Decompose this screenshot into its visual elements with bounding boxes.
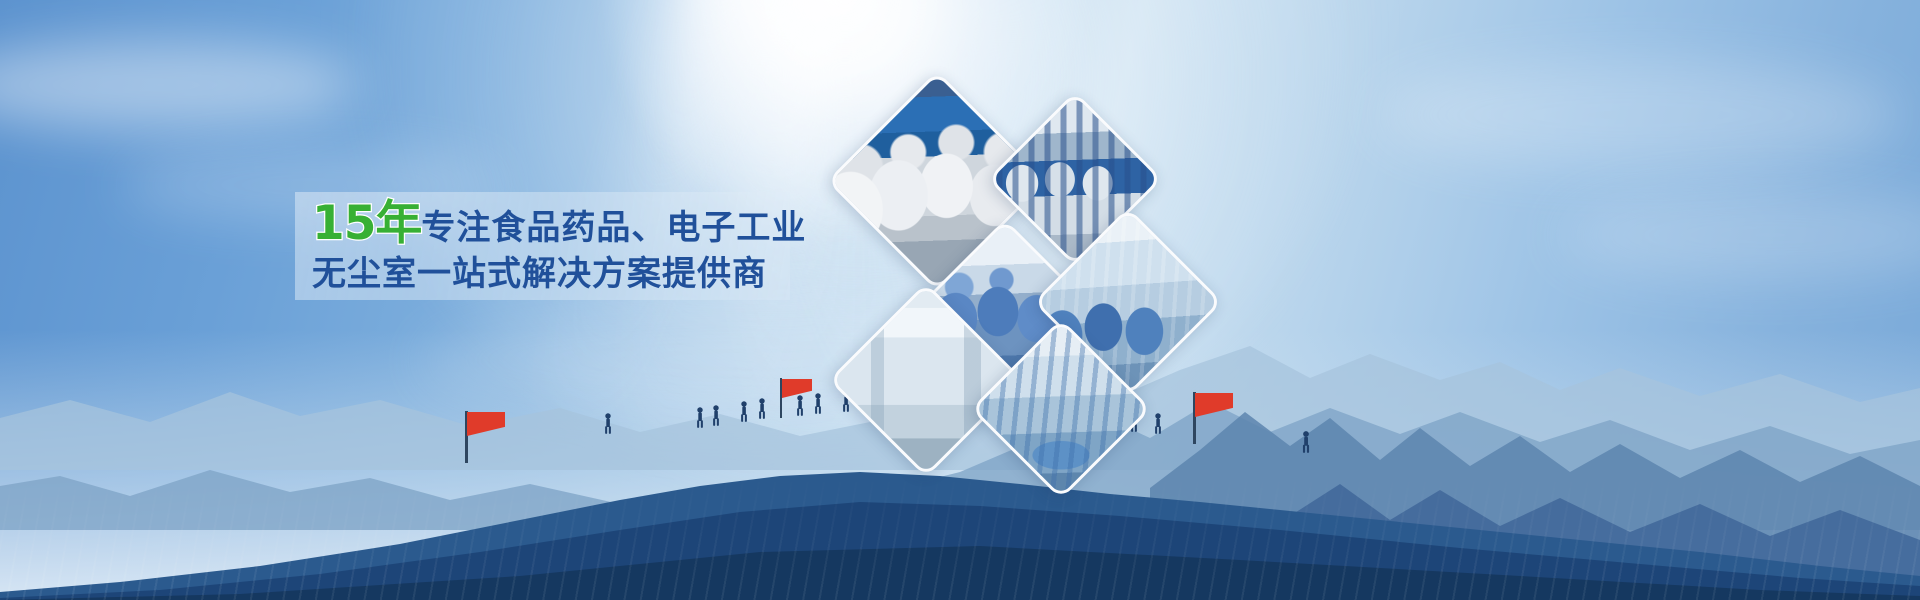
- years-number: 15: [312, 196, 375, 251]
- years-badge: 15年: [312, 196, 421, 251]
- years-unit: 年: [375, 196, 421, 251]
- flag-pole: [780, 378, 782, 418]
- headline-line-1-text: 专注食品药品、电子工业: [421, 208, 806, 248]
- headline-line-2: 无尘室一站式解决方案提供商: [312, 255, 812, 293]
- diamond-photo-collage: [845, 95, 1275, 465]
- headline-line-1: 15年专注食品药品、电子工业: [312, 198, 812, 251]
- headline-block: 15年专注食品药品、电子工业 无尘室一站式解决方案提供商: [312, 198, 812, 293]
- hero-banner: 15年专注食品药品、电子工业 无尘室一站式解决方案提供商: [0, 0, 1920, 600]
